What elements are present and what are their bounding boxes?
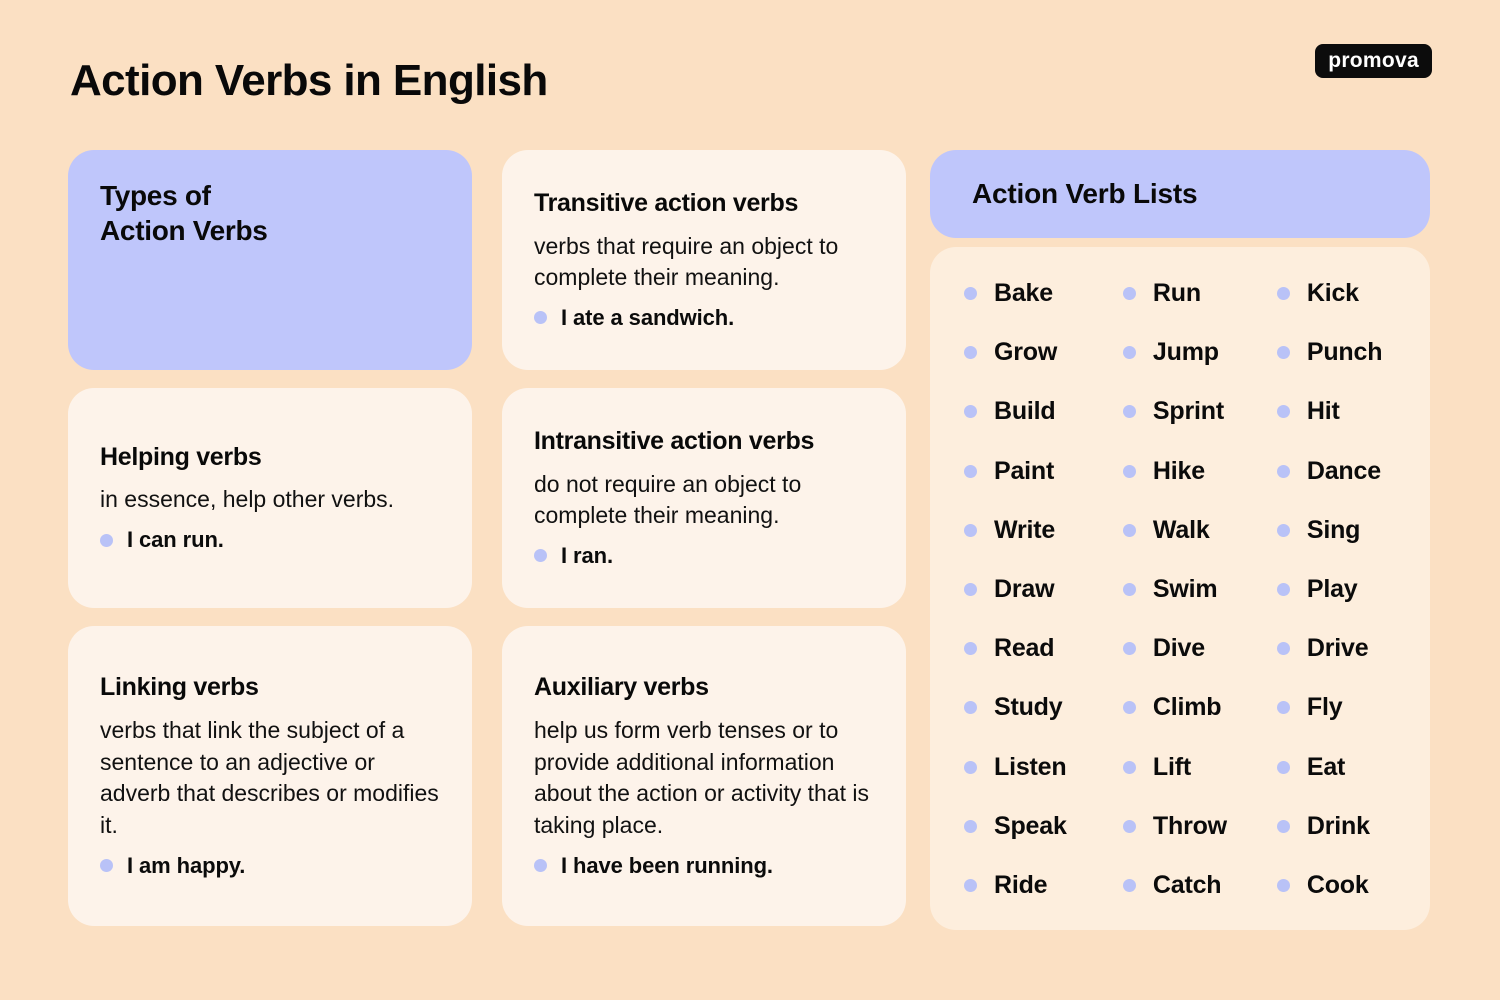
verb-label: Drive <box>1307 634 1369 663</box>
verb-list-item: Dance <box>1277 457 1406 486</box>
bullet-icon <box>964 405 977 418</box>
bullet-icon <box>1277 287 1290 300</box>
infographic-page: Action Verbs in English promova Types of… <box>0 0 1500 1000</box>
verb-list-item: Draw <box>964 575 1123 604</box>
verb-label: Sprint <box>1153 397 1224 426</box>
example-text: I ate a sandwich. <box>561 305 734 331</box>
card-description: verbs that require an object to complete… <box>534 231 874 294</box>
bullet-icon <box>964 701 977 714</box>
verb-label: Study <box>994 693 1062 722</box>
verb-list-item: Listen <box>964 753 1123 782</box>
bullet-icon <box>1123 346 1136 359</box>
bullet-icon <box>1277 524 1290 537</box>
verb-list-item: Hike <box>1123 457 1277 486</box>
verb-label: Kick <box>1307 279 1359 308</box>
verb-list-item: Climb <box>1123 693 1277 722</box>
page-header: Action Verbs in English promova <box>0 0 1500 150</box>
example-text: I am happy. <box>127 853 245 879</box>
verb-list-item: Drink <box>1277 812 1406 841</box>
page-title: Action Verbs in English <box>70 56 548 106</box>
bullet-icon <box>964 761 977 774</box>
action-verb-lists-title: Action Verb Lists <box>972 178 1197 210</box>
verb-list-item: Speak <box>964 812 1123 841</box>
verb-list-item: Sing <box>1277 516 1406 545</box>
bullet-icon <box>1277 465 1290 478</box>
card-linking-verbs: Linking verbs verbs that link the subjec… <box>68 626 472 926</box>
verb-label: Read <box>994 634 1054 663</box>
card-example: I can run. <box>100 527 440 553</box>
verb-label: Throw <box>1153 812 1227 841</box>
card-heading: Auxiliary verbs <box>534 673 874 703</box>
bullet-icon <box>1277 701 1290 714</box>
card-example: I ate a sandwich. <box>534 305 874 331</box>
card-description: in essence, help other verbs. <box>100 484 440 516</box>
bullet-icon <box>964 820 977 833</box>
verb-label: Dance <box>1307 457 1381 486</box>
verb-list-item: Dive <box>1123 634 1277 663</box>
card-example: I have been running. <box>534 853 874 879</box>
verb-list-item: Read <box>964 634 1123 663</box>
verb-label: Build <box>994 397 1056 426</box>
card-heading: Linking verbs <box>100 673 440 703</box>
bullet-icon <box>1123 879 1136 892</box>
verb-label: Ride <box>994 871 1047 900</box>
verb-label: Walk <box>1153 516 1210 545</box>
card-auxiliary-verbs: Auxiliary verbs help us form verb tenses… <box>502 626 906 926</box>
card-example: I am happy. <box>100 853 440 879</box>
types-of-action-verbs-card: Types of Action Verbs <box>68 150 472 370</box>
action-verb-lists-panel: Action Verb Lists BakeGrowBuildPaintWrit… <box>930 150 1430 930</box>
bullet-icon <box>100 859 113 872</box>
bullet-icon <box>1123 583 1136 596</box>
card-heading: Intransitive action verbs <box>534 427 874 457</box>
bullet-icon <box>964 642 977 655</box>
card-helping-verbs: Helping verbs in essence, help other ver… <box>68 388 472 608</box>
card-description: verbs that link the subject of a sentenc… <box>100 715 440 842</box>
bullet-icon <box>1123 524 1136 537</box>
verb-label: Draw <box>994 575 1054 604</box>
bullet-icon <box>1123 761 1136 774</box>
verb-list-item: Kick <box>1277 279 1406 308</box>
bullet-icon <box>1277 583 1290 596</box>
example-text: I have been running. <box>561 853 773 879</box>
bullet-icon <box>1277 642 1290 655</box>
bullet-icon <box>100 534 113 547</box>
verb-label: Hike <box>1153 457 1205 486</box>
verb-label: Lift <box>1153 753 1191 782</box>
verb-list-item: Eat <box>1277 753 1406 782</box>
bullet-icon <box>1277 879 1290 892</box>
verb-list-item: Drive <box>1277 634 1406 663</box>
verb-list-item: Sprint <box>1123 397 1277 426</box>
card-intransitive-action-verbs: Intransitive action verbs do not require… <box>502 388 906 608</box>
action-verb-lists-header: Action Verb Lists <box>930 150 1430 238</box>
verb-label: Eat <box>1307 753 1345 782</box>
bullet-icon <box>1277 405 1290 418</box>
verb-label: Dive <box>1153 634 1205 663</box>
types-grid: Types of Action Verbs Transitive action … <box>68 150 906 930</box>
verb-list-item: Paint <box>964 457 1123 486</box>
verb-label: Speak <box>994 812 1067 841</box>
bullet-icon <box>964 465 977 478</box>
verb-label: Write <box>994 516 1055 545</box>
verb-list-item: Run <box>1123 279 1277 308</box>
bullet-icon <box>1123 820 1136 833</box>
verb-list-item: Grow <box>964 338 1123 367</box>
bullet-icon <box>964 583 977 596</box>
bullet-icon <box>534 859 547 872</box>
verb-list-item: Play <box>1277 575 1406 604</box>
types-card-title: Types of Action Verbs <box>100 178 440 248</box>
verb-column-1: BakeGrowBuildPaintWriteDrawReadStudyList… <box>964 279 1123 900</box>
example-text: I ran. <box>561 543 613 569</box>
bullet-icon <box>534 311 547 324</box>
verb-list-item: Walk <box>1123 516 1277 545</box>
bullet-icon <box>1123 701 1136 714</box>
bullet-icon <box>534 549 547 562</box>
bullet-icon <box>964 879 977 892</box>
verb-label: Fly <box>1307 693 1343 722</box>
verb-list-item: Lift <box>1123 753 1277 782</box>
verb-label: Listen <box>994 753 1066 782</box>
verb-list-item: Study <box>964 693 1123 722</box>
bullet-icon <box>1123 465 1136 478</box>
verb-label: Punch <box>1307 338 1382 367</box>
verb-list-item: Catch <box>1123 871 1277 900</box>
action-verb-lists-body: BakeGrowBuildPaintWriteDrawReadStudyList… <box>930 247 1430 930</box>
bullet-icon <box>964 524 977 537</box>
card-example: I ran. <box>534 543 874 569</box>
bullet-icon <box>1277 820 1290 833</box>
verb-label: Swim <box>1153 575 1218 604</box>
promova-logo: promova <box>1315 44 1432 78</box>
verb-column-2: RunJumpSprintHikeWalkSwimDiveClimbLiftTh… <box>1123 279 1277 900</box>
verb-label: Hit <box>1307 397 1340 426</box>
verb-list-item: Hit <box>1277 397 1406 426</box>
card-heading: Helping verbs <box>100 443 440 473</box>
verb-label: Sing <box>1307 516 1360 545</box>
card-transitive-action-verbs: Transitive action verbs verbs that requi… <box>502 150 906 370</box>
verb-label: Bake <box>994 279 1053 308</box>
verb-column-3: KickPunchHitDanceSingPlayDriveFlyEatDrin… <box>1277 279 1406 900</box>
verb-label: Paint <box>994 457 1054 486</box>
verb-list-item: Jump <box>1123 338 1277 367</box>
card-heading: Transitive action verbs <box>534 189 874 219</box>
verb-list-item: Swim <box>1123 575 1277 604</box>
verb-label: Jump <box>1153 338 1219 367</box>
verb-label: Catch <box>1153 871 1221 900</box>
bullet-icon <box>1277 761 1290 774</box>
card-description: help us form verb tenses or to provide a… <box>534 715 874 842</box>
verb-list-item: Write <box>964 516 1123 545</box>
verb-list-item: Throw <box>1123 812 1277 841</box>
card-description: do not require an object to complete the… <box>534 469 874 532</box>
verb-label: Grow <box>994 338 1057 367</box>
bullet-icon <box>1277 346 1290 359</box>
bullet-icon <box>964 346 977 359</box>
bullet-icon <box>1123 287 1136 300</box>
verb-label: Run <box>1153 279 1201 308</box>
example-text: I can run. <box>127 527 224 553</box>
verb-label: Cook <box>1307 871 1369 900</box>
verb-label: Play <box>1307 575 1358 604</box>
verb-list-item: Ride <box>964 871 1123 900</box>
verb-list-item: Fly <box>1277 693 1406 722</box>
bullet-icon <box>1123 642 1136 655</box>
verb-list-item: Bake <box>964 279 1123 308</box>
bullet-icon <box>1123 405 1136 418</box>
verb-label: Drink <box>1307 812 1370 841</box>
verb-list-item: Cook <box>1277 871 1406 900</box>
verb-list-item: Build <box>964 397 1123 426</box>
verb-label: Climb <box>1153 693 1221 722</box>
bullet-icon <box>964 287 977 300</box>
verb-list-item: Punch <box>1277 338 1406 367</box>
